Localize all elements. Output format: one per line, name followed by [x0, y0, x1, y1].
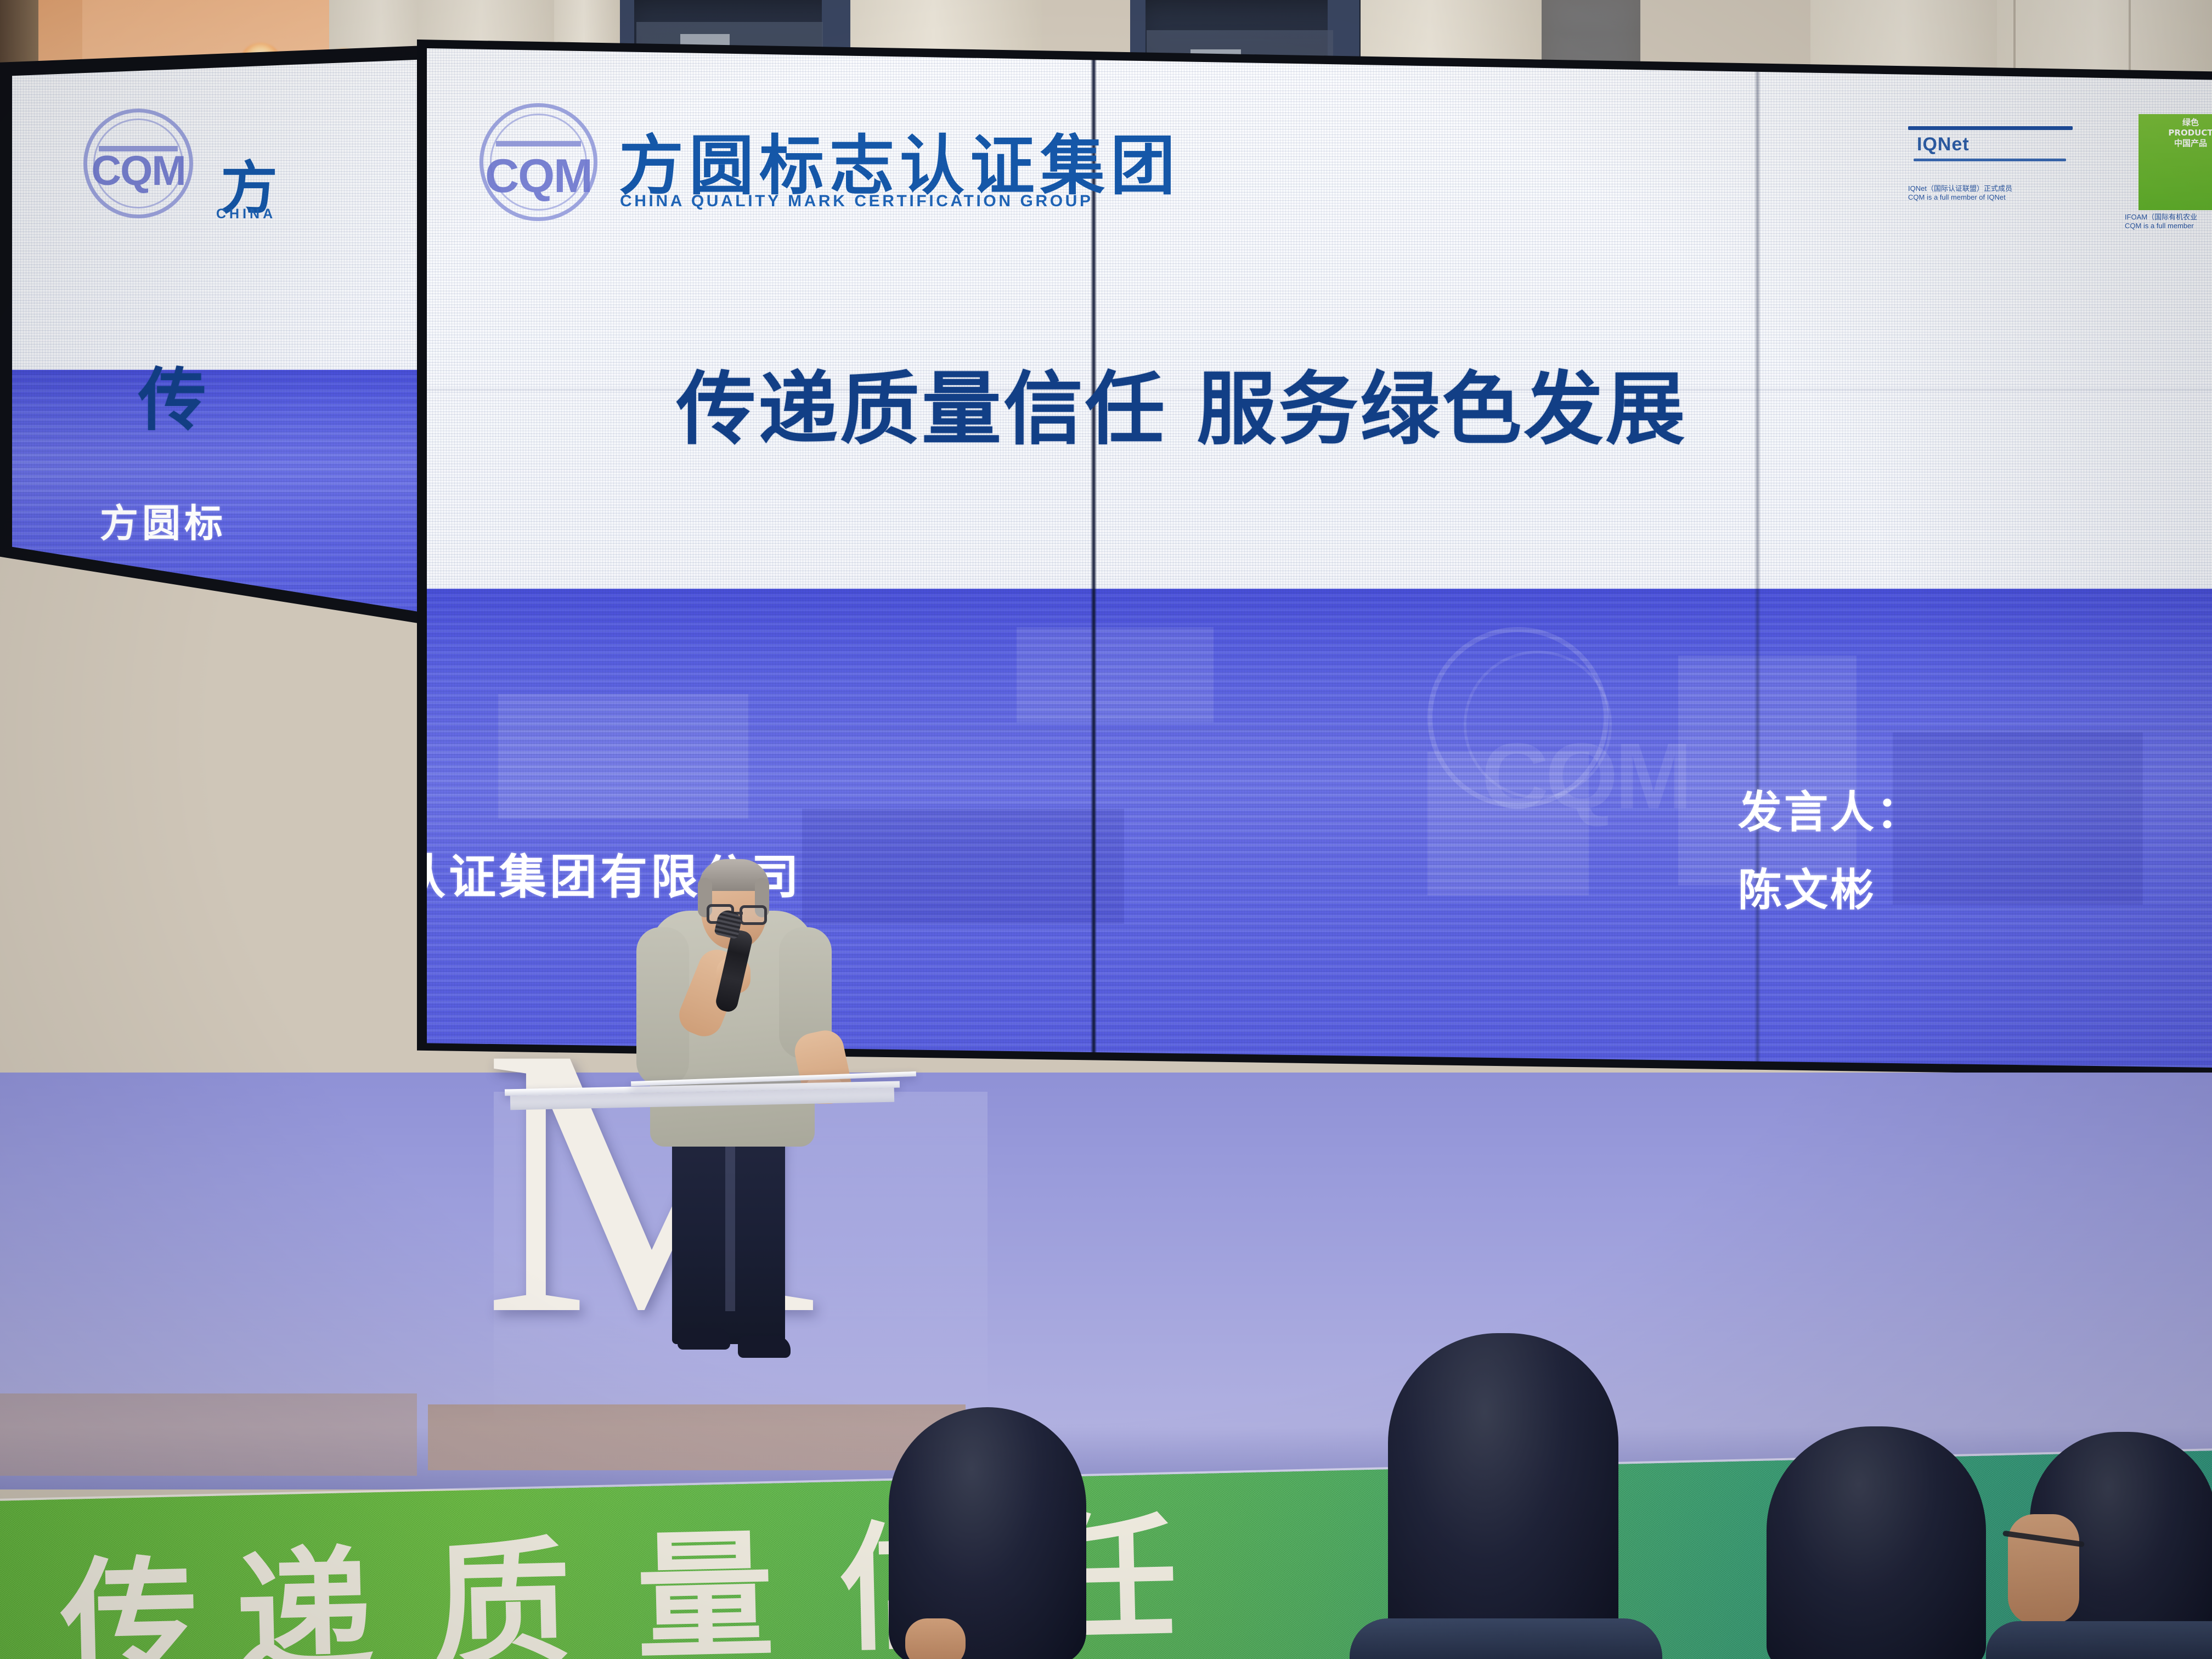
brand-name-en: CHINA QUALITY MARK CERTIFICATION GROUP — [620, 192, 1093, 211]
led-wall-left-wing: CQM 方 CHINA 传 方圆标 — [0, 45, 439, 627]
cqm-logo-mark: CQM — [83, 109, 193, 218]
green-badge-line3: 中国产品 — [2141, 138, 2212, 149]
iqnet-caption-en: CQM is a full member of IQNet — [1908, 193, 2089, 202]
led-wing-surface: CQM 方 CHINA 传 方圆标 — [12, 59, 429, 613]
slide-title: 传递质量信任 服务绿色发展 — [676, 345, 1687, 460]
stage-floor-wood-patch — [0, 1393, 417, 1476]
audience-shoulders — [1350, 1618, 1662, 1659]
iqnet-rule-bottom — [1914, 159, 2066, 161]
iqnet-caption-cn: IQNet（国际认证联盟）正式成员 — [1908, 184, 2089, 193]
iqnet-wordmark: IQNet — [1917, 134, 2089, 155]
iqnet-accreditation: IQNet IQNet（国际认证联盟）正式成员 CQM is a full me… — [1908, 126, 2089, 202]
green-badge-line2: PRODUCT — [2141, 128, 2212, 138]
cqm-logo-mark: CQM — [479, 103, 597, 221]
footer-speaker-name: 陈文彬 — [1738, 855, 1876, 918]
cqm-letters: CQM — [83, 153, 193, 190]
audience-head — [1388, 1333, 1618, 1659]
banner-char: 传 — [59, 1554, 200, 1659]
ifoam-caption-cn: IFOAM（国际有机农业 — [2125, 213, 2212, 222]
banner-char: 质 — [432, 1534, 572, 1659]
band-light-patch — [1017, 627, 1213, 723]
band-light-patch — [1678, 656, 1857, 885]
speaker-shoe — [738, 1336, 791, 1358]
band-light-patch — [498, 694, 748, 819]
footer-speaker-label: 发言人： — [1738, 777, 1922, 840]
ifoam-caption-en: CQM is a full member — [2125, 222, 2212, 230]
band-dark-patch — [1893, 732, 2143, 905]
led-panel-seam-h — [427, 729, 2212, 731]
speaker-shoe — [678, 1328, 730, 1350]
cqm-letters: CQM — [479, 155, 597, 198]
stage-floor-wood-patch — [428, 1404, 966, 1470]
screenshot-root: CQM 方 CHINA 传 方圆标 CQM — [0, 0, 2212, 1659]
brand-name-en-partial: CHINA — [216, 206, 276, 222]
audience-neck — [905, 1618, 966, 1659]
green-certification-badge: 绿色 PRODUCT 中国产品 — [2138, 114, 2212, 210]
audience-face — [2008, 1514, 2079, 1624]
band-dark-patch — [802, 809, 1124, 924]
cqm-watermark-letters: CQM — [1481, 723, 1689, 830]
audience-shoulders — [1986, 1621, 2212, 1659]
slide-title-partial: 传 — [138, 345, 207, 443]
cqm-bar — [496, 141, 581, 146]
footer-company-partial: 方圆标 — [100, 493, 227, 548]
speaker-leg-gap — [725, 1130, 735, 1311]
ifoam-accreditation: IFOAM（国际有机农业 CQM is a full member — [2125, 213, 2212, 231]
iqnet-rule-top — [1908, 126, 2073, 130]
green-badge-line1: 绿色 — [2141, 117, 2212, 128]
speaker-glasses-right-lens — [740, 905, 767, 925]
banner-char: 量 — [635, 1527, 775, 1659]
banner-char: 递 — [235, 1544, 375, 1659]
audience-head — [1767, 1426, 1986, 1659]
